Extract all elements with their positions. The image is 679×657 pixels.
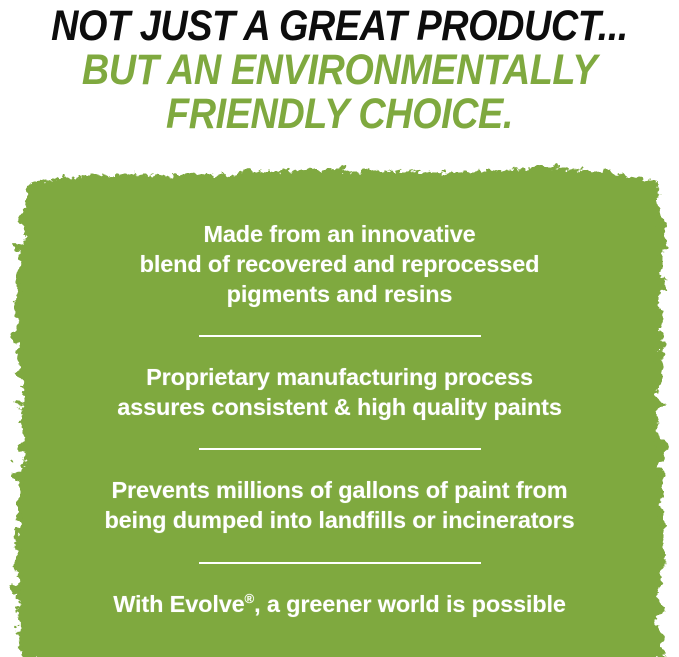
green-benefits-panel: Made from an innovative blend of recover… xyxy=(0,157,679,657)
headline-line-1: NOT JUST A GREAT PRODUCT... xyxy=(41,5,639,47)
benefit-prevents-landfill: Prevents millions of gallons of paint fr… xyxy=(30,475,649,535)
headline-block: NOT JUST A GREAT PRODUCT... BUT AN ENVIR… xyxy=(0,0,679,135)
poster-canvas: NOT JUST A GREAT PRODUCT... BUT AN ENVIR… xyxy=(0,0,679,657)
registered-trademark-icon: ® xyxy=(245,591,255,606)
headline-line-2: BUT AN ENVIRONMENTALLY xyxy=(41,49,639,91)
benefit-made-from: Made from an innovative blend of recover… xyxy=(30,219,649,309)
benefits-list: Made from an innovative blend of recover… xyxy=(0,157,679,657)
divider-2 xyxy=(199,448,481,450)
benefit-greener-world-text-before: With Evolve xyxy=(113,591,244,617)
headline-line-3: FRIENDLY CHOICE. xyxy=(41,93,639,135)
divider-3 xyxy=(199,562,481,564)
benefit-manufacturing: Proprietary manufacturing process assure… xyxy=(30,362,649,422)
benefit-greener-world-text-after: , a greener world is possible xyxy=(254,591,566,617)
benefit-greener-world: With Evolve®, a greener world is possibl… xyxy=(30,589,649,619)
divider-1 xyxy=(199,335,481,337)
